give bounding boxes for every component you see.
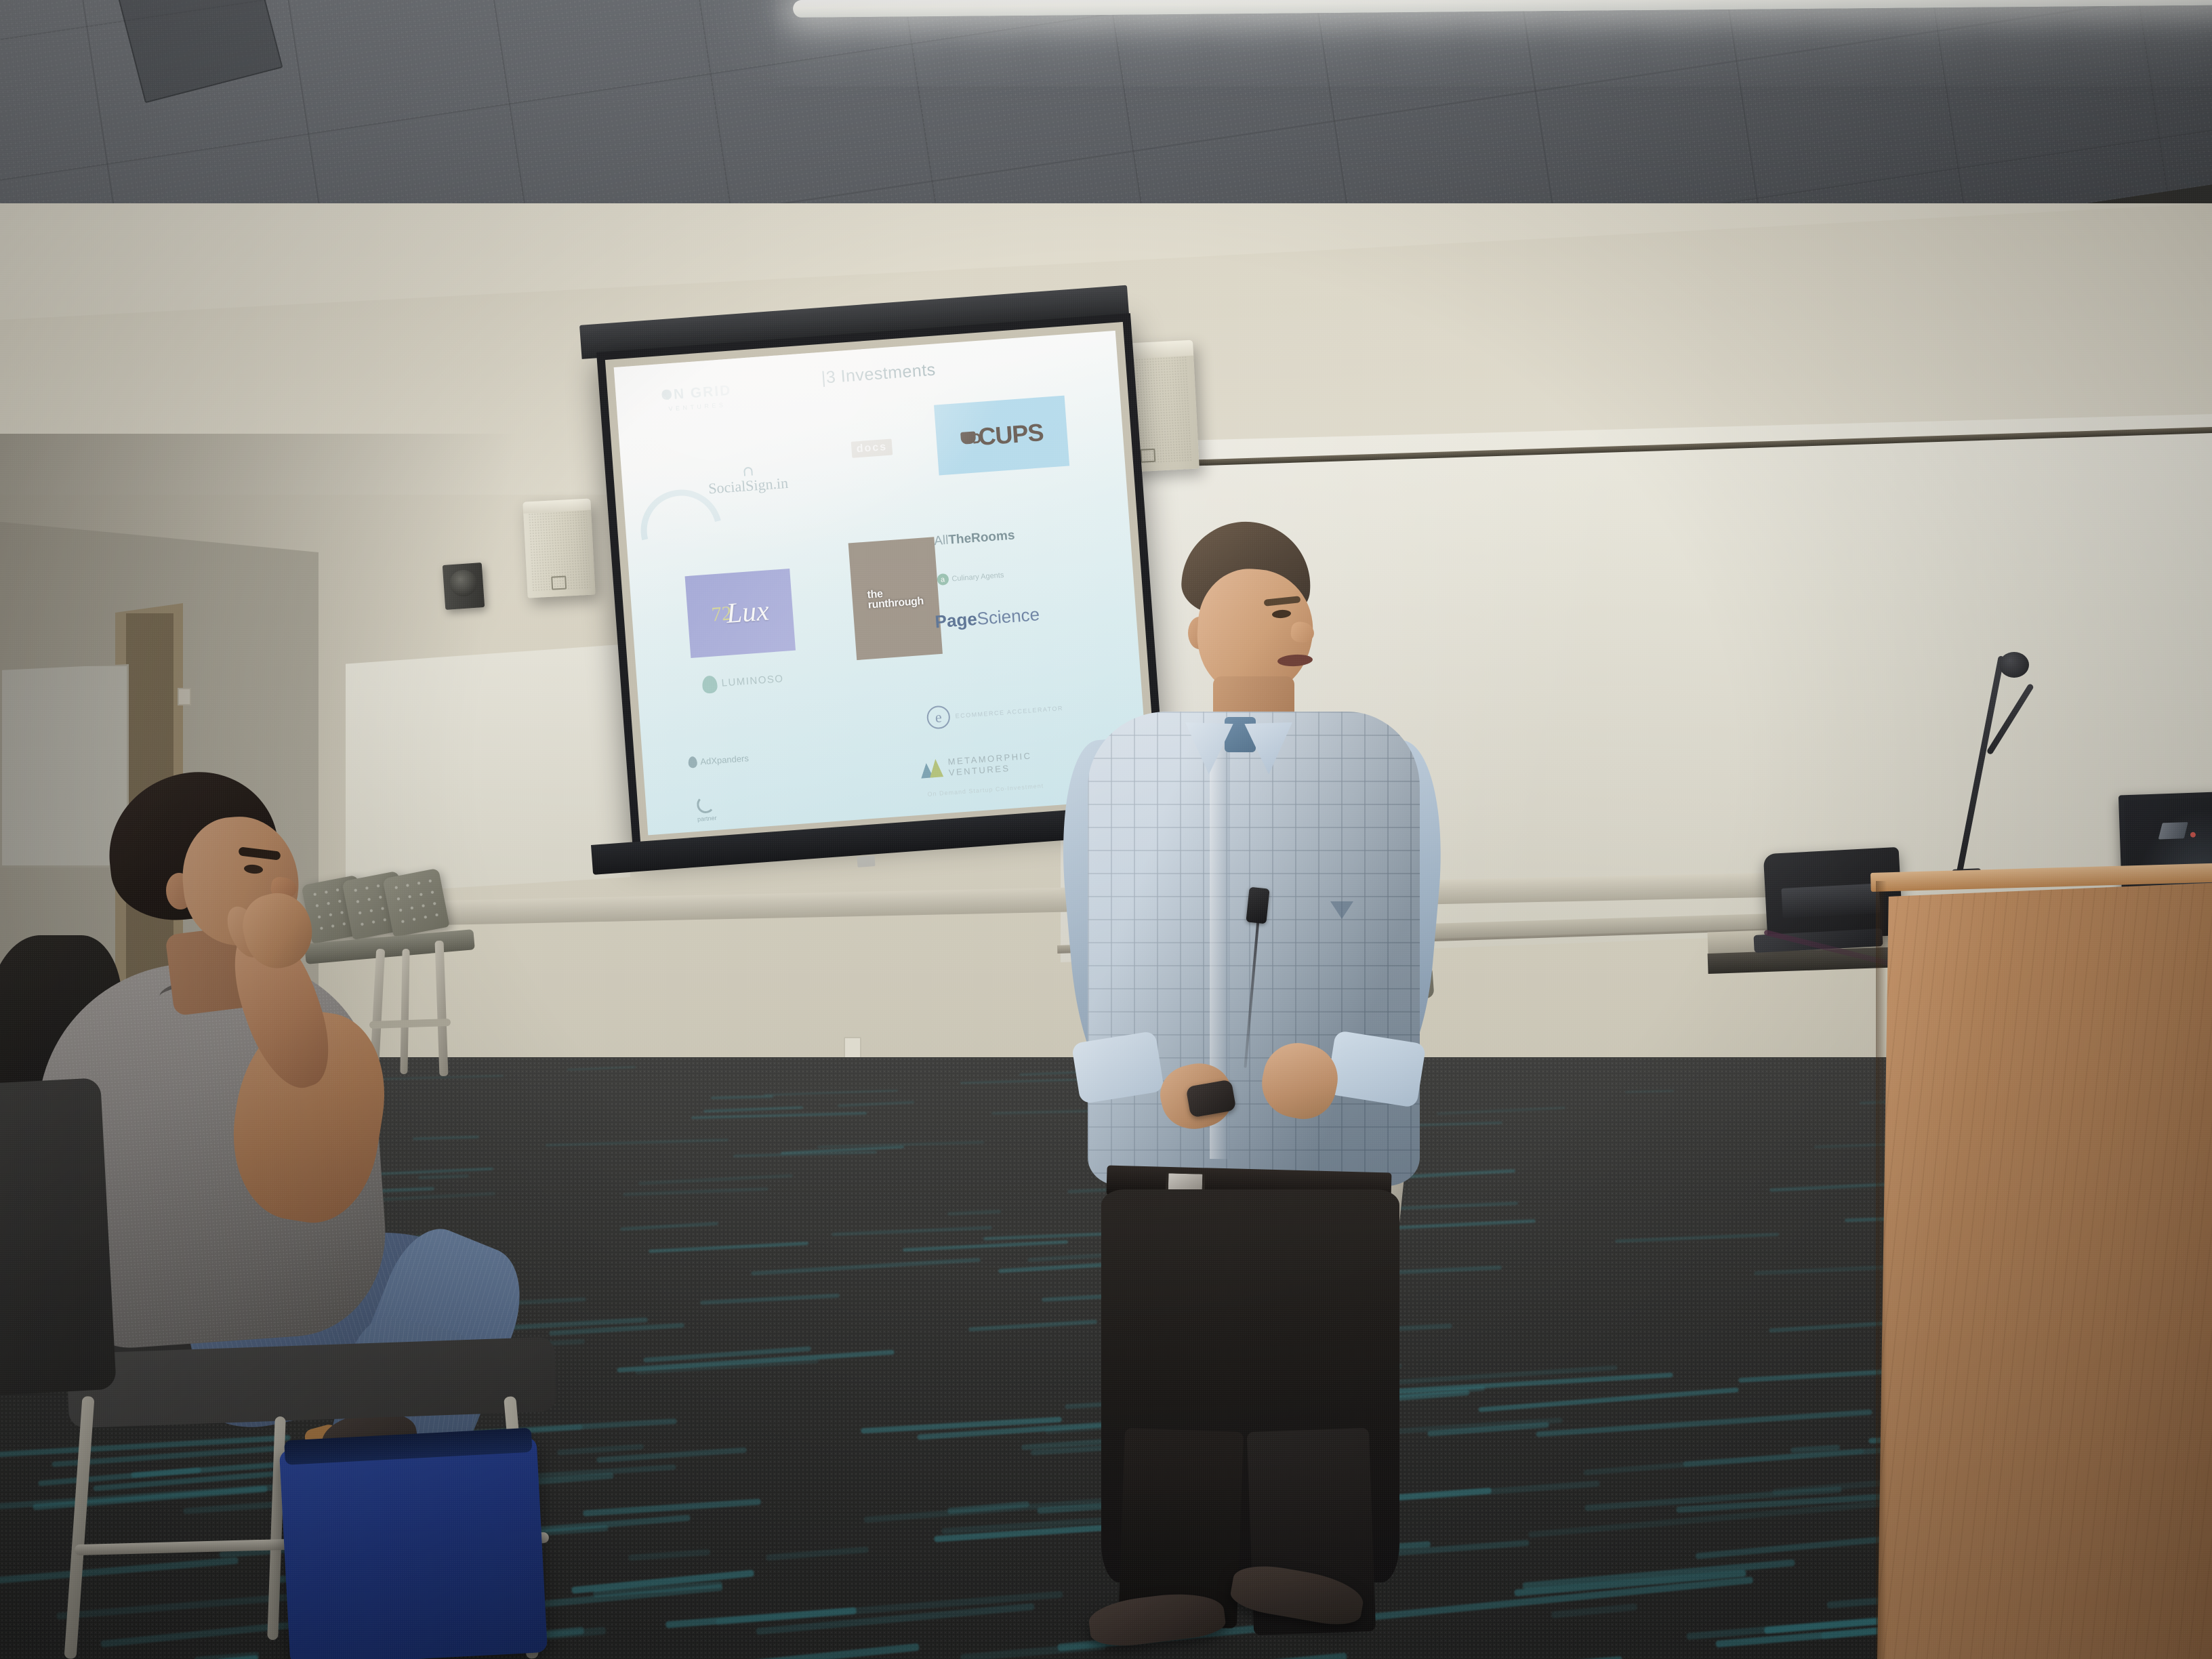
microphone-capsule-icon[interactable] xyxy=(1999,652,2029,678)
logo-socialsignin-label: SocialSign.in xyxy=(708,474,788,497)
slide-brand-logo: ON GRID VENTURES xyxy=(661,382,733,413)
logo-docs-label: docs xyxy=(856,441,887,455)
speaker-brand-badge xyxy=(551,576,567,590)
wifi-icon xyxy=(743,467,753,476)
wood-grain xyxy=(1877,881,2212,1659)
wall-speaker-mid xyxy=(523,498,595,598)
slide-title: |3 Investments xyxy=(821,361,937,388)
logo-72lux: 72 Lux xyxy=(684,569,796,658)
lapel-microphone-icon xyxy=(1246,887,1269,924)
logo-culinary-agents: Culinary Agents xyxy=(937,569,1004,586)
logo-metamorphic-ventures: METAMORPHIC VENTURES xyxy=(920,751,1033,781)
power-outlet-icon[interactable] xyxy=(844,1037,861,1060)
logo-runthrough: the runthrough xyxy=(848,537,942,660)
logo-luminoso-label: LUMINOSO xyxy=(721,673,784,689)
logo-alltherooms-prefix: All xyxy=(934,533,949,548)
presenter xyxy=(1047,522,1467,1579)
logo-runthrough-line2: runthrough xyxy=(867,596,924,611)
culinary-agents-badge-icon xyxy=(937,573,949,586)
logo-cups-label: CUPS xyxy=(977,418,1044,451)
logo-alltherooms: AllTheRooms xyxy=(934,529,1016,550)
speaker-brand-badge xyxy=(1140,448,1155,462)
logo-socialsignin: SocialSign.in xyxy=(708,474,789,498)
projection-screen-pull-tab[interactable] xyxy=(857,855,875,867)
podium[interactable] xyxy=(1877,881,2212,1659)
e-circle-icon: e xyxy=(926,705,951,729)
droplet-icon xyxy=(702,675,718,694)
lecture-hall-photo: EXIT |3 Investments xyxy=(0,0,2212,1659)
logo-pagescience: PageScience xyxy=(935,605,1041,633)
logo-culinary-agents-label: Culinary Agents xyxy=(951,571,1004,583)
logo-luminoso: LUMINOSO xyxy=(702,670,785,694)
logo-alltherooms-suffix: TheRooms xyxy=(948,529,1015,548)
cup-icon xyxy=(960,431,976,445)
logo-72lux-word: Lux xyxy=(725,595,770,630)
monitor-power-led-icon xyxy=(2190,832,2196,837)
laptop-sleeve[interactable] xyxy=(279,1437,548,1659)
logo-ecommerce-accelerator: e ECOMMERCE ACCELERATOR xyxy=(926,697,1065,730)
mountain-icon xyxy=(920,759,943,779)
logo-cups: CUPS xyxy=(934,396,1069,476)
logo-pagescience-prefix: Page xyxy=(935,609,978,632)
podium-edge-shadow xyxy=(1876,881,1887,1659)
monitor-logo-icon xyxy=(2158,822,2188,840)
logo-docs: docs xyxy=(851,438,893,457)
wall-speaker-small-dark xyxy=(443,562,485,610)
slide-footnote: On Demand Startup Co-Investment xyxy=(927,783,1044,798)
foreground-chair[interactable] xyxy=(0,1078,117,1396)
logo-pagescience-suffix: Science xyxy=(977,605,1040,630)
